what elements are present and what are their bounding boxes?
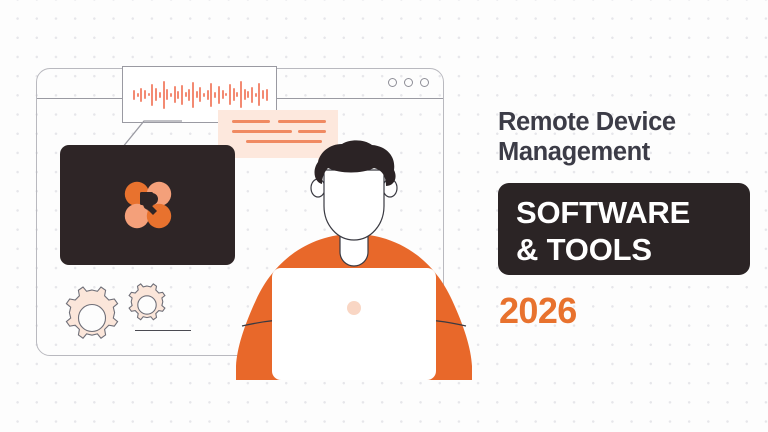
waveform-bar — [258, 83, 260, 106]
page-title: Remote Device Management — [498, 108, 768, 168]
waveform-bar — [137, 93, 139, 97]
waveform-bar — [170, 93, 172, 97]
waveform-bar — [203, 93, 205, 97]
laptop-shape — [272, 268, 436, 380]
laptop-logo-icon — [347, 301, 361, 315]
window-dot-icon-2 — [404, 78, 413, 87]
waveform-bar — [244, 89, 246, 100]
window-control-dots — [388, 78, 429, 87]
person-at-laptop-illustration — [228, 140, 480, 380]
waveform-bar — [133, 90, 135, 100]
waveform-bar — [174, 86, 176, 103]
waveform-bar — [218, 86, 220, 104]
waveform-bar — [199, 87, 201, 102]
waveform-bar — [236, 92, 238, 97]
waveform-bar — [222, 90, 224, 99]
waveform-bar — [188, 89, 190, 101]
waveform-bar — [255, 93, 257, 97]
year-label: 2026 — [499, 293, 577, 329]
settings-gears-icon — [52, 276, 182, 364]
waveform-bar — [192, 82, 194, 108]
waveform-bar — [181, 85, 183, 105]
badge-label: SOFTWARE & TOOLS — [516, 195, 690, 268]
waveform-bar — [262, 90, 264, 99]
waveform-bar — [251, 87, 253, 103]
waveform-bar — [185, 92, 187, 97]
waveform-bar — [233, 88, 235, 101]
message-text-line — [232, 130, 292, 133]
waveform-bar — [196, 91, 198, 98]
headline-block: Remote Device Management — [498, 108, 768, 168]
title-badge: SOFTWARE & TOOLS — [498, 183, 750, 275]
head-shape — [324, 170, 384, 240]
poster-canvas: Remote Device Management SOFTWARE & TOOL… — [0, 0, 768, 432]
audio-waveform-icon — [133, 75, 268, 115]
waveform-bar — [207, 90, 209, 100]
waveform-bar — [240, 81, 242, 108]
brand-logo-icon — [124, 181, 172, 229]
waveform-bar — [214, 92, 216, 98]
waveform-bar — [163, 81, 165, 109]
window-dot-icon-1 — [388, 78, 397, 87]
device-card — [60, 145, 235, 265]
message-text-line — [232, 120, 270, 123]
waveform-bar — [210, 83, 212, 107]
waveform-bar — [144, 90, 146, 99]
waveform-bar — [166, 89, 168, 100]
illustration-area — [0, 0, 480, 432]
window-dot-icon-3 — [420, 78, 429, 87]
waveform-bar — [151, 84, 153, 106]
waveform-bar — [266, 89, 268, 101]
gear-connector-line — [135, 330, 191, 331]
waveform-bar — [177, 91, 179, 99]
waveform-bar — [148, 93, 150, 96]
waveform-bar — [155, 88, 157, 101]
waveform-bar — [140, 88, 142, 102]
message-text-line — [298, 130, 326, 133]
waveform-bar — [247, 91, 249, 98]
waveform-bar — [159, 92, 161, 98]
message-text-line — [278, 120, 326, 123]
waveform-bar — [229, 84, 231, 105]
waveform-bar — [225, 93, 227, 96]
